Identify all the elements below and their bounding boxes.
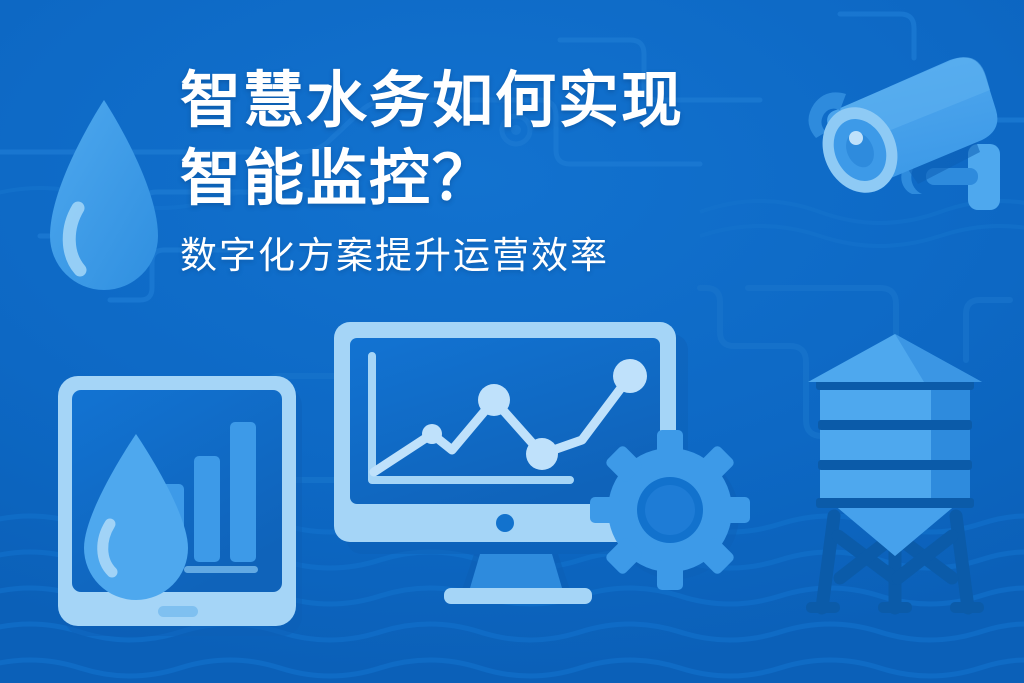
security-camera-icon <box>800 48 1020 258</box>
monitor-power-dot <box>496 514 514 532</box>
tablet-home-button[interactable] <box>158 606 198 617</box>
page-title-line-2: 智能监控？ <box>180 140 820 218</box>
monitor-stand <box>470 554 562 588</box>
page-subtitle: 数字化方案提升运营效率 <box>180 228 820 284</box>
water-tower-icon <box>790 330 1000 620</box>
gear-icon <box>588 428 752 592</box>
tablet-dashboard-icon <box>58 376 308 638</box>
monitor-base <box>444 588 592 604</box>
title-block: 智慧水务如何实现 智能监控？ 数字化方案提升运营效率 <box>180 62 820 284</box>
water-droplet-icon <box>44 96 164 308</box>
poster-canvas: 智慧水务如何实现 智能监控？ 数字化方案提升运营效率 <box>0 0 1024 683</box>
water-tower-feet <box>806 602 984 613</box>
page-title-line-1: 智慧水务如何实现 <box>180 62 820 140</box>
